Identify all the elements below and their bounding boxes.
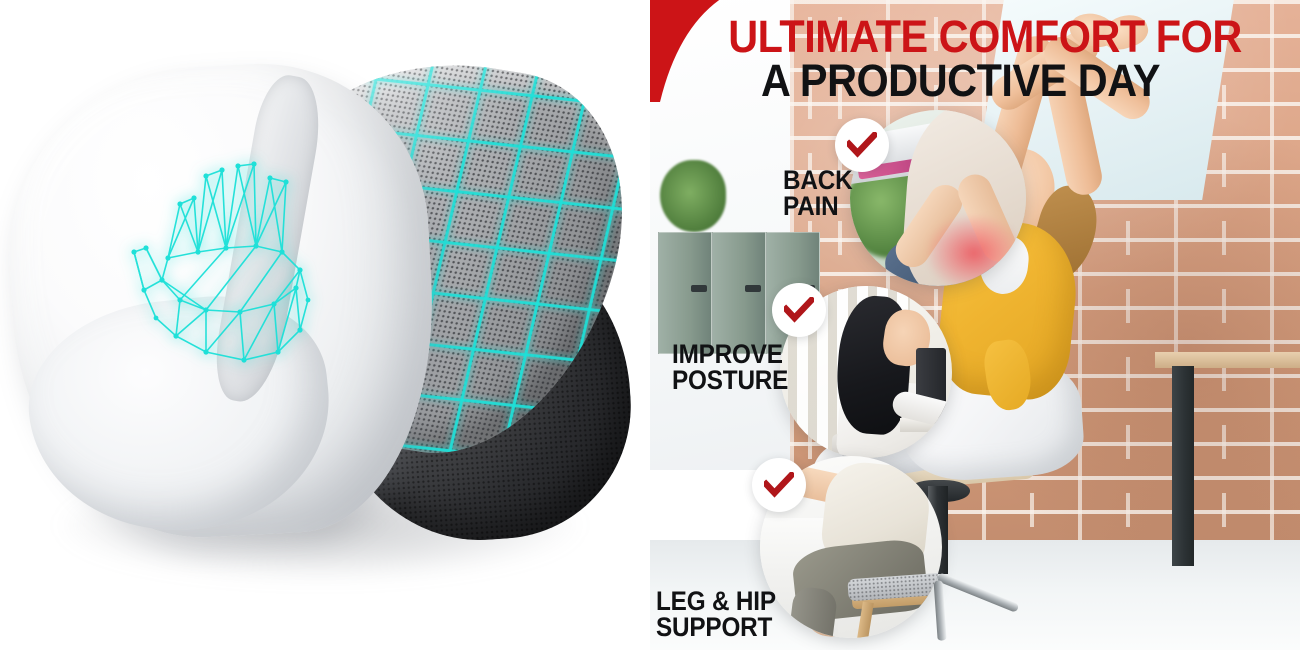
pain-glow-highlight [928, 216, 1020, 286]
feature-label-line-2: SUPPORT [656, 615, 776, 641]
lifestyle-panel: ULTIMATE COMFORT FOR A PRODUCTIVE DAY [650, 0, 1300, 650]
feature-label-leg-hip-support: LEG & HIP SUPPORT [656, 589, 776, 640]
headline-line-1: ULTIMATE COMFORT FOR [728, 16, 1193, 57]
feature-label-line-2: PAIN [783, 194, 852, 220]
check-icon [784, 297, 814, 323]
product-marketing-banner: ULTIMATE COMFORT FOR A PRODUCTIVE DAY [0, 0, 1300, 650]
headline: ULTIMATE COMFORT FOR A PRODUCTIVE DAY [708, 16, 1213, 102]
wireframe-handprint-icon [110, 140, 360, 400]
feature-label-improve-posture: IMPROVE POSTURE [672, 342, 788, 393]
check-badge-leg-hip-support [752, 458, 806, 512]
check-badge-back-pain [835, 118, 889, 172]
product-image-panel [0, 0, 650, 650]
feature-label-back-pain: BACK PAIN [783, 168, 852, 219]
feature-label-line-1: LEG & HIP [656, 589, 776, 615]
check-icon [764, 472, 794, 498]
background-locker [712, 232, 766, 354]
feature-label-line-1: BACK [783, 168, 852, 194]
locker-handle [691, 285, 707, 292]
check-badge-improve-posture [772, 283, 826, 337]
feature-label-line-1: IMPROVE [672, 342, 788, 368]
desk-leg [1172, 366, 1194, 566]
check-icon [847, 132, 877, 158]
headline-line-2: A PRODUCTIVE DAY [728, 60, 1193, 101]
locker-handle [745, 285, 761, 292]
background-locker [658, 232, 712, 354]
background-plant [660, 160, 726, 232]
feature-label-line-2: POSTURE [672, 368, 788, 394]
